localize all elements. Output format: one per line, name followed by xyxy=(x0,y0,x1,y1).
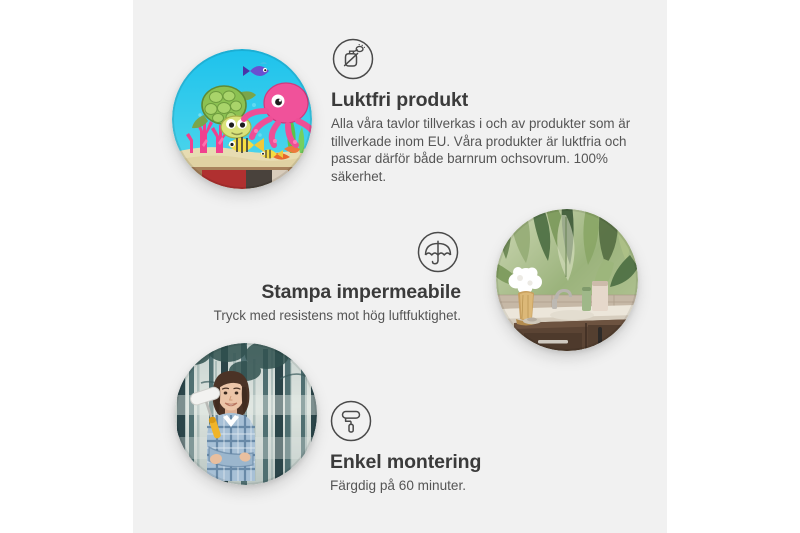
infographic-canvas: Luktfri produkt Alla våra tavlor tillver… xyxy=(0,0,800,533)
photo-bathroom-vanity-leaf-wallpaper xyxy=(496,209,638,351)
umbrella-icon xyxy=(186,231,461,273)
photo-woman-painter-forest-wallpaper xyxy=(175,343,317,485)
feature-body: Färgdig på 60 minuter. xyxy=(330,477,590,495)
feature-title: Enkel montering xyxy=(330,451,590,474)
feature-odour-free: Luktfri produkt Alla våra tavlor tillver… xyxy=(331,38,631,185)
feature-body: Tryck med resistens mot hög luftfuktighe… xyxy=(186,307,461,325)
no-perfume-icon xyxy=(331,38,631,80)
feature-waterproof-print: Stampa impermeabile Tryck med resistens … xyxy=(186,231,461,325)
feature-title: Stampa impermeabile xyxy=(186,281,461,304)
feature-body: Alla våra tavlor tillverkas i och av pro… xyxy=(331,115,631,185)
feature-title: Luktfri produkt xyxy=(331,89,631,112)
paint-roller-icon xyxy=(330,400,590,442)
feature-easy-mounting: Enkel montering Färgdig på 60 minuter. xyxy=(330,400,590,495)
photo-underwater-cartoon-mural xyxy=(172,49,312,189)
